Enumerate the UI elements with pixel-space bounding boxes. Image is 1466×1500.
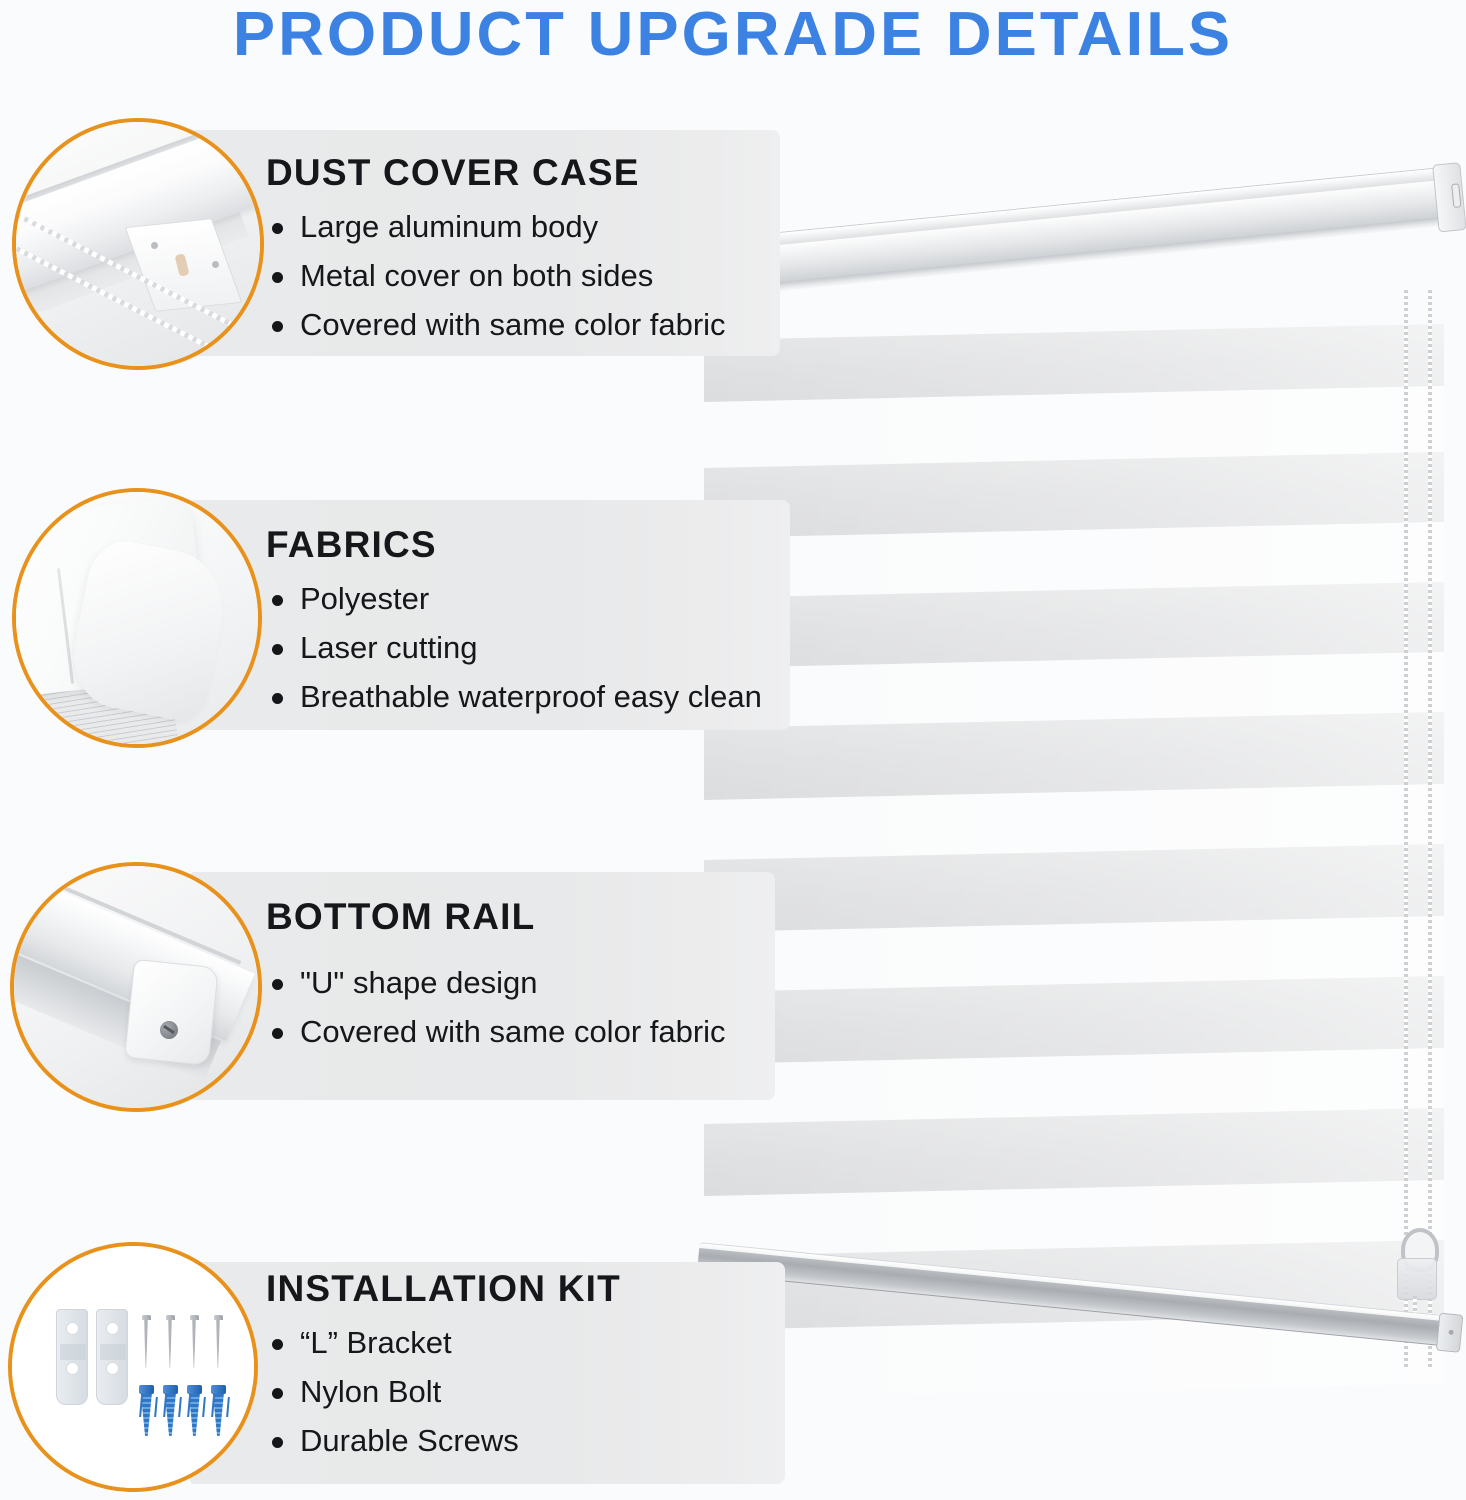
list-item: Metal cover on both sides [266,251,726,300]
screw [166,1315,175,1368]
page-title: PRODUCT UPGRADE DETAILS [0,2,1466,68]
bottom-rail-photo [10,862,262,1112]
section-title: INSTALLATION KIT [266,1268,621,1310]
list-item: Durable Screws [266,1416,519,1465]
chain-tensioner[interactable] [1393,1228,1439,1320]
nylon-anchor [163,1385,178,1436]
nylon-anchor [187,1385,202,1436]
nylon-anchor [211,1385,226,1436]
list-item: Covered with same color fabric [266,300,726,349]
list-item: Polyester [266,574,762,623]
product-upgrade-infographic: PRODUCT UPGRADE DETAILS [0,0,1466,1500]
screw [214,1315,223,1368]
screw [190,1315,199,1368]
section-title: BOTTOM RAIL [266,896,535,938]
bead-chain-back[interactable] [1428,290,1432,1370]
list-item: Breathable waterproof easy clean [266,672,762,721]
headrail-end-cap [1432,162,1466,232]
feature-list: Large aluminum body Metal cover on both … [266,202,726,349]
zebra-roller-blind-illustration [690,190,1466,1370]
list-item: "U" shape design [266,958,726,1007]
feature-list: Polyester Laser cutting Breathable water… [266,574,762,721]
list-item: Nylon Bolt [266,1367,519,1416]
feature-list: "U" shape design Covered with same color… [266,958,726,1056]
list-item: Covered with same color fabric [266,1007,726,1056]
hardware-group [46,1309,225,1391]
screw [142,1315,151,1368]
dust-cover-case-photo [12,118,264,370]
bead-chain-front[interactable] [1404,290,1408,1370]
l-bracket [56,1309,88,1405]
list-item: “L” Bracket [266,1318,519,1367]
blind-fabric [704,324,1444,1400]
section-title: DUST COVER CASE [266,152,640,194]
headrail [695,166,1453,301]
installation-hardware-photo [8,1242,258,1492]
nylon-anchor [139,1385,154,1436]
feature-list: “L” Bracket Nylon Bolt Durable Screws [266,1318,519,1465]
bottom-rail-end-cap [1436,1313,1464,1353]
list-item: Large aluminum body [266,202,726,251]
l-bracket [96,1309,128,1405]
section-title: FABRICS [266,524,437,566]
fabric-sample-photo [12,488,262,748]
list-item: Laser cutting [266,623,762,672]
